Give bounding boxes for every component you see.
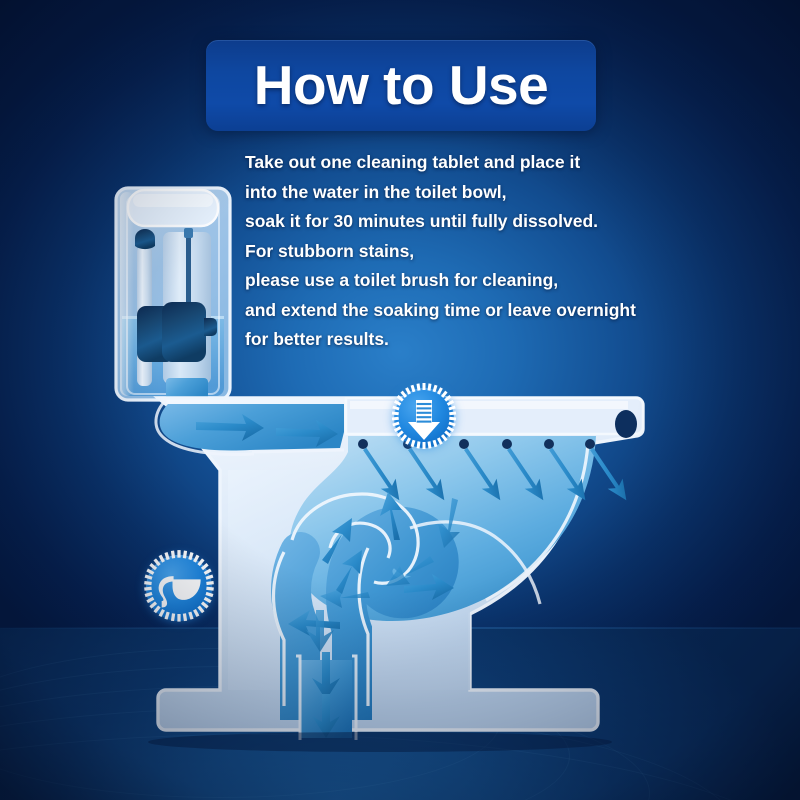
- instruction-line-4: For stubborn stains,: [245, 237, 715, 267]
- instruction-line-7: for better results.: [245, 325, 715, 355]
- instruction-line-1: Take out one cleaning tablet and place i…: [245, 148, 715, 178]
- page-title: How to Use: [254, 58, 548, 113]
- instruction-line-6: and extend the soaking time or leave ove…: [245, 296, 715, 326]
- infographic-canvas: How to Use Take out one cleaning tablet …: [0, 0, 800, 800]
- instruction-block: Take out one cleaning tablet and place i…: [245, 148, 715, 355]
- instruction-line-5: please use a toilet brush for cleaning,: [245, 266, 715, 296]
- title-banner: How to Use: [206, 40, 596, 131]
- instruction-line-3: soak it for 30 minutes until fully disso…: [245, 207, 715, 237]
- instruction-line-2: into the water in the toilet bowl,: [245, 178, 715, 208]
